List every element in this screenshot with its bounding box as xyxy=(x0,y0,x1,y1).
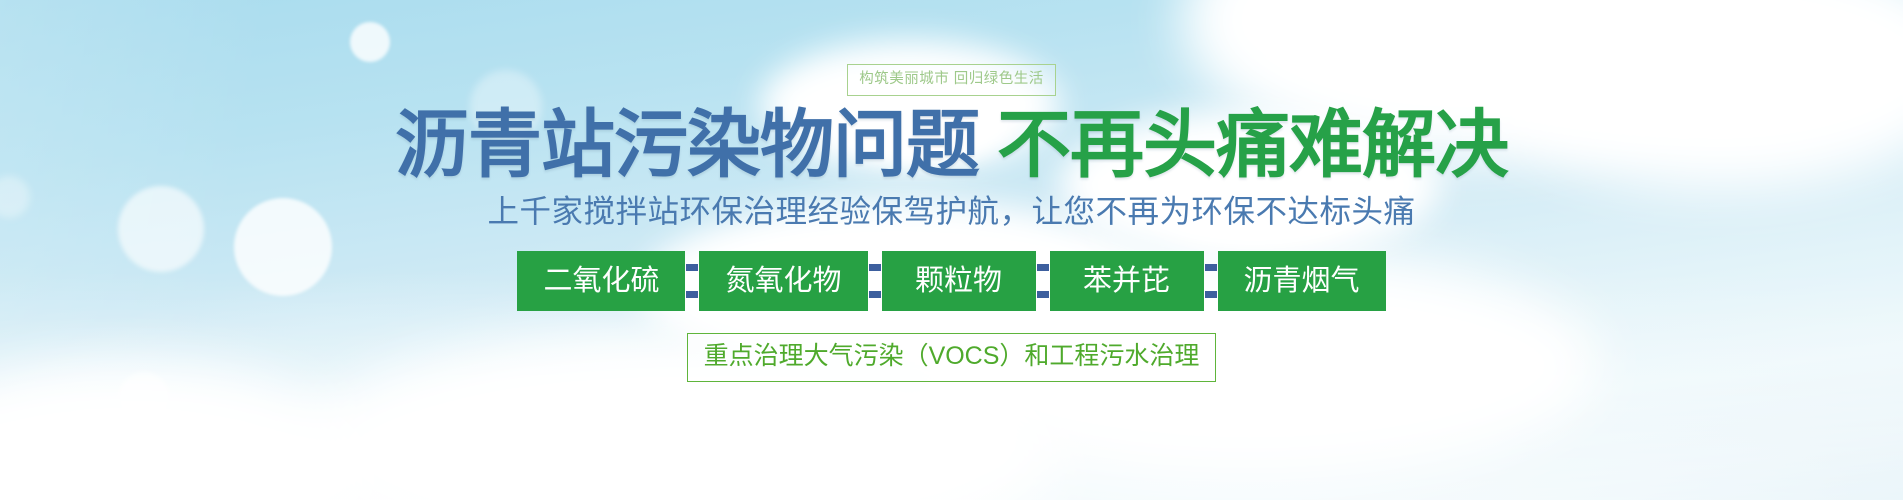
pollutant-tag-list: 二氧化硫 氮氧化物 颗粒物 苯并芘 沥青烟气 xyxy=(517,251,1385,311)
headline-green-text: 不再头痛难解决 xyxy=(997,102,1508,188)
headline: 沥青站污染物问题不再头痛难解决 xyxy=(395,108,1508,182)
separator-dash-icon xyxy=(686,291,698,298)
tag-separator xyxy=(1036,251,1050,311)
tag-item[interactable]: 苯并芘 xyxy=(1050,251,1204,311)
tag-item[interactable]: 沥青烟气 xyxy=(1218,251,1386,311)
separator-dash-icon xyxy=(686,264,698,271)
banner-content: 构筑美丽城市 回归绿色生活 沥青站污染物问题不再头痛难解决 上千家搅拌站环保治理… xyxy=(0,0,1903,500)
separator-dash-icon xyxy=(1205,264,1217,271)
separator-dash-icon xyxy=(869,264,881,271)
tag-item[interactable]: 氮氧化物 xyxy=(699,251,867,311)
subtitle: 上千家搅拌站环保治理经验保驾护航，让您不再为环保不达标头痛 xyxy=(487,196,1415,228)
footnote-pill: 重点治理大气污染（VOCS）和工程污水治理 xyxy=(687,333,1217,382)
tag-separator xyxy=(868,251,882,311)
tag-separator xyxy=(1204,251,1218,311)
headline-blue-text: 沥青站污染物问题 xyxy=(395,102,979,188)
separator-dash-icon xyxy=(1037,291,1049,298)
separator-dash-icon xyxy=(1205,291,1217,298)
eyebrow-slogan: 构筑美丽城市 回归绿色生活 xyxy=(847,64,1056,96)
tag-item[interactable]: 二氧化硫 xyxy=(517,251,685,311)
promo-banner: 构筑美丽城市 回归绿色生活 沥青站污染物问题不再头痛难解决 上千家搅拌站环保治理… xyxy=(0,0,1903,500)
tag-separator xyxy=(685,251,699,311)
separator-dash-icon xyxy=(869,291,881,298)
tag-item[interactable]: 颗粒物 xyxy=(882,251,1036,311)
separator-dash-icon xyxy=(1037,264,1049,271)
